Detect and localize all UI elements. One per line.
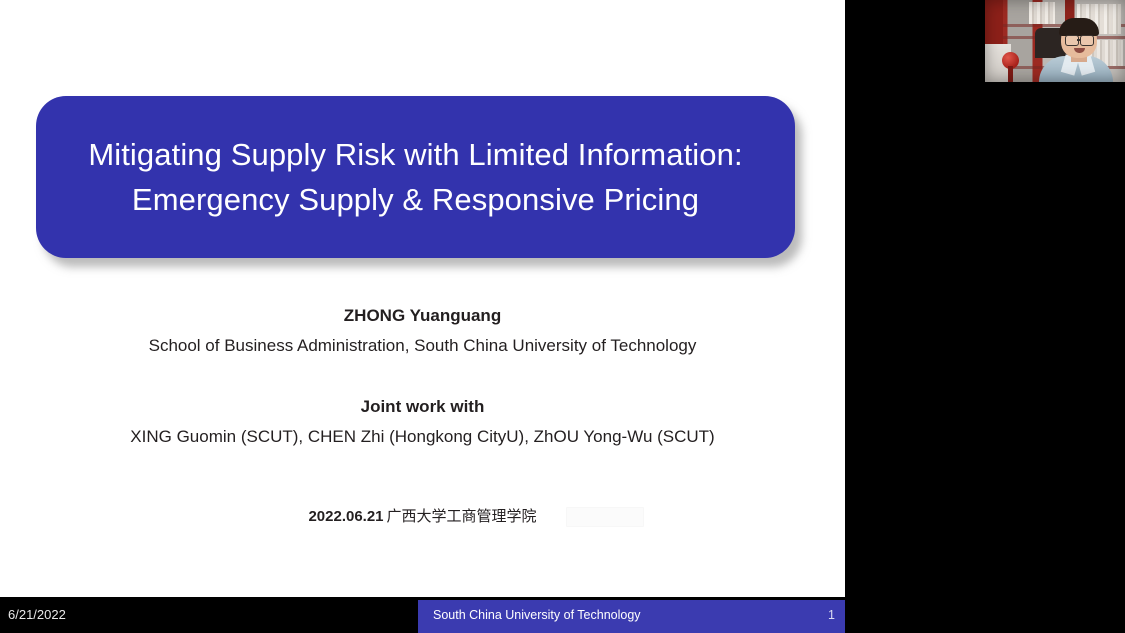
slide-page-number: 1	[828, 608, 835, 622]
video-vignette-overlay	[985, 0, 1125, 82]
presenter-name: ZHONG Yuanguang	[0, 303, 845, 328]
presentation-screen-share: Mitigating Supply Risk with Limited Info…	[0, 0, 1125, 633]
author-block: ZHONG Yuanguang School of Business Admin…	[0, 303, 845, 450]
faint-watermark	[566, 507, 644, 527]
slide-canvas: Mitigating Supply Risk with Limited Info…	[0, 0, 845, 597]
footer-blue-band: South China University of Technology 1	[418, 600, 845, 633]
joint-work-label: Joint work with	[0, 394, 845, 419]
slide-title-banner: Mitigating Supply Risk with Limited Info…	[36, 96, 795, 258]
footer-date: 6/21/2022	[8, 607, 66, 622]
presentation-venue: 广西大学工商管理学院	[387, 508, 537, 525]
coauthors-list: XING Guomin (SCUT), CHEN Zhi (Hongkong C…	[0, 423, 845, 450]
slide-title: Mitigating Supply Risk with Limited Info…	[88, 132, 742, 222]
presenter-affiliation: School of Business Administration, South…	[0, 332, 845, 359]
presenter-video-thumbnail[interactable]	[985, 0, 1125, 82]
date-venue-line: 2022.06.21广西大学工商管理学院	[0, 505, 845, 526]
footer-organization: South China University of Technology	[433, 608, 641, 622]
presentation-date: 2022.06.21	[308, 508, 383, 525]
